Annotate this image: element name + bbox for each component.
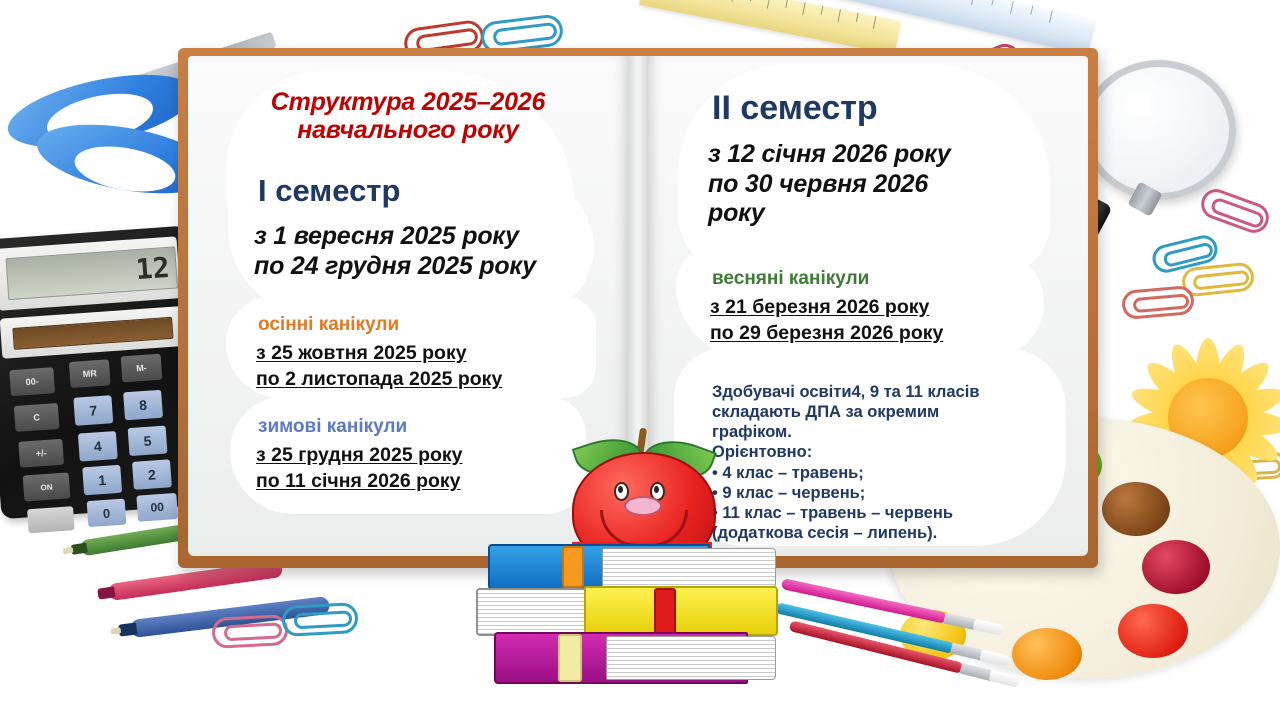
- autumn-holiday-from: з 25 жовтня 2025 року: [256, 342, 467, 364]
- winter-holiday-to: по 11 січня 2026 року: [256, 470, 461, 492]
- paint-blob-red: [1118, 604, 1188, 658]
- autumn-holiday-to: по 2 листопада 2025 року: [256, 368, 502, 390]
- winter-holiday-dates: з 25 грудня 2025 року по 11 січня 2026 р…: [256, 442, 586, 494]
- semester-1-date-to: по 24 грудня 2025 року: [254, 252, 626, 282]
- book-stack: [466, 540, 806, 690]
- winter-holiday-from: з 25 грудня 2025 року: [256, 444, 463, 466]
- semester-2-date-from: з 12 січня 2026 року: [708, 140, 1054, 170]
- winter-holiday-label: зимові канікули: [258, 416, 407, 439]
- paint-blob-orange: [1012, 628, 1082, 680]
- book-magenta-pages: [606, 636, 776, 680]
- spring-holiday-to: по 29 березня 2026 року: [710, 322, 943, 344]
- dpa-note-line-3: графіком.: [712, 422, 1062, 442]
- paint-blob-brown: [1102, 482, 1170, 536]
- semester-2-date-to-2: року: [708, 199, 1054, 229]
- poster-title: Структура 2025–2026 навчального року: [230, 88, 586, 144]
- autumn-holiday-label: осінні канікули: [258, 314, 399, 337]
- dpa-note-line-5: • 4 клас – травень;: [712, 463, 1062, 483]
- ruler-yellow: [639, 0, 901, 54]
- dpa-note-line-6: • 9 клас – червень;: [712, 483, 1062, 503]
- poster-title-line1: Структура 2025–2026: [230, 88, 586, 116]
- spring-holiday-dates: з 21 березня 2026 року по 29 березня 202…: [710, 294, 1050, 346]
- paperclip-bottom-cyan: [281, 602, 359, 637]
- poster-title-line2: навчального року: [230, 116, 586, 144]
- spring-holiday-from: з 21 березня 2026 року: [710, 296, 929, 318]
- semester-1-dates: з 1 вересня 2025 року по 24 грудня 2025 …: [254, 222, 626, 281]
- dpa-note-line-7: • 11 клас – травень – червень: [712, 503, 1062, 523]
- dpa-note-line-1: Здобувачі освіти4, 9 та 11 класів: [712, 382, 1062, 402]
- poster-canvas: 12 00- MR M- C 7 8 +/- 4 5 ON 1 2 0 00: [0, 0, 1280, 703]
- semester-2-dates: з 12 січня 2026 року по 30 червня 2026 р…: [708, 140, 1054, 229]
- spring-holiday-label: весняні канікули: [712, 268, 869, 291]
- semester-1-heading: I семестр: [258, 174, 400, 208]
- dpa-note: Здобувачі освіти4, 9 та 11 класів склада…: [712, 382, 1062, 543]
- semester-2-date-to: по 30 червня 2026: [708, 170, 1054, 200]
- paint-blob-crimson: [1142, 540, 1210, 594]
- book-yellow: [476, 588, 590, 636]
- dpa-note-line-2: складають ДПА за окремим: [712, 402, 1062, 422]
- magnifier-icon: [1080, 58, 1280, 318]
- semester-1-date-from: з 1 вересня 2025 року: [254, 222, 626, 252]
- book-blue-pages: [602, 548, 776, 588]
- autumn-holiday-dates: з 25 жовтня 2025 року по 2 листопада 202…: [256, 340, 586, 392]
- dpa-note-line-4: Орієнтовно:: [712, 442, 1062, 462]
- semester-2-heading: II семестр: [712, 90, 878, 127]
- paperclip-bottom-pink: [211, 614, 289, 649]
